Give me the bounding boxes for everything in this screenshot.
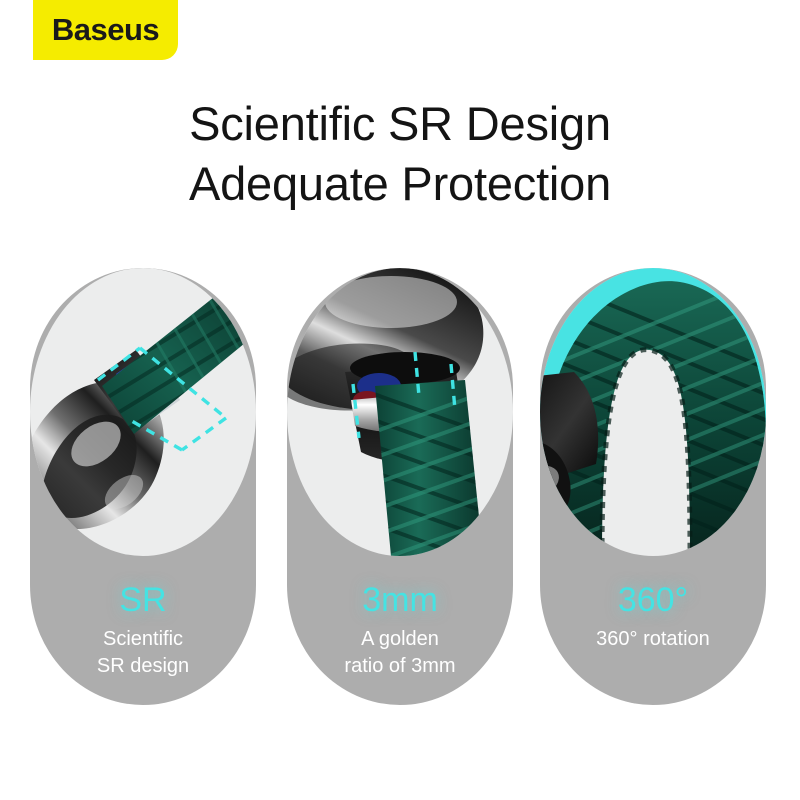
headline-line-2: Adequate Protection [0,154,800,214]
brand-logo-badge: Baseus [33,0,178,60]
product-photo-golden-ratio [287,268,513,556]
feature-panel-rotation: 360° 360° rotation [540,268,766,705]
braided-cable-2 [357,368,497,556]
product-photo-rotation [540,268,766,556]
metric-360: 360° [540,580,766,620]
headline: Scientific SR Design Adequate Protection [0,94,800,214]
desc-3mm-line-1: A golden [287,626,513,653]
desc-3mm-line-2: ratio of 3mm [287,653,513,680]
brand-name: Baseus [52,14,159,45]
feature-panels: SR Scientific SR design [0,268,800,708]
caption-golden-ratio: 3mm A golden ratio of 3mm [287,580,513,680]
caption-sr-design: SR Scientific SR design [30,580,256,680]
metric-sr: SR [30,580,256,620]
feature-panel-golden-ratio: 3mm A golden ratio of 3mm [287,268,513,705]
desc-sr-line-2: SR design [30,653,256,680]
desc-360-line-1: 360° rotation [540,626,766,653]
desc-sr-line-1: Scientific [30,626,256,653]
caption-rotation: 360° 360° rotation [540,580,766,653]
headline-line-1: Scientific SR Design [0,94,800,154]
metric-3mm: 3mm [287,580,513,620]
golden-ratio-illustration [287,268,513,556]
feature-panel-sr-design: SR Scientific SR design [30,268,256,705]
rotation-illustration [540,268,766,556]
sr-design-illustration [30,268,256,556]
product-photo-sr-design [30,268,256,556]
